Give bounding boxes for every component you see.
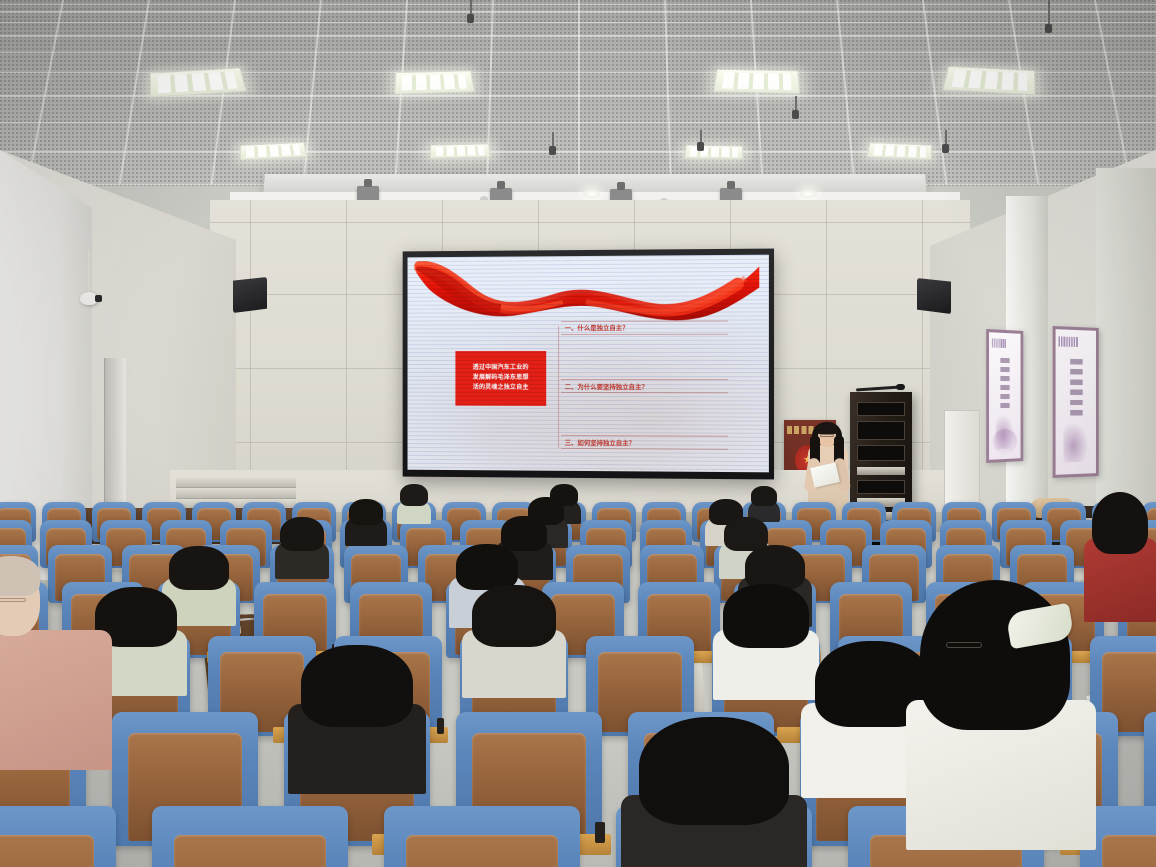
audience-hair xyxy=(920,580,1070,730)
recessed-downlight xyxy=(800,190,817,198)
audience-glasses-icon xyxy=(946,642,982,648)
ceiling-hanger xyxy=(795,96,797,110)
seat-back-panel xyxy=(406,835,559,867)
slide-outline-list: 一、什么是独立自主？ 二、为什么要坚持独立自主？ 三、如何坚持独立自主？ xyxy=(561,320,729,455)
audience-member xyxy=(280,517,324,568)
wall-speaker-icon-left xyxy=(233,277,267,313)
poster-logo xyxy=(1059,337,1078,348)
slide-headline-box: 透过中国汽车工业的 发展解码毛泽东思想 活的灵魂之独立自主 xyxy=(455,351,546,407)
lecture-hall-photo: 透过中国汽车工业的 发展解码毛泽东思想 活的灵魂之独立自主 一、什么是独立自主？… xyxy=(0,0,1156,867)
ceiling-hanger-head xyxy=(1045,24,1052,33)
auditorium-seat[interactable] xyxy=(384,806,580,867)
ceiling-hanger-head xyxy=(697,142,704,151)
ceiling-hanger xyxy=(552,132,554,146)
seat-back-panel xyxy=(1102,835,1156,867)
audience-member xyxy=(723,584,809,680)
audience-torso xyxy=(0,630,112,770)
audience-hair xyxy=(0,556,40,596)
ceiling-panel-light xyxy=(942,66,1035,95)
rack-slot xyxy=(857,421,904,440)
audience-hair xyxy=(169,546,229,590)
outline-item-3: 三、如何坚持独立自主？ xyxy=(561,435,729,450)
audience-hair xyxy=(723,584,809,648)
audience-member-red-vest xyxy=(1088,492,1154,602)
audience-hair xyxy=(456,544,518,590)
audience-hair xyxy=(751,486,777,506)
headline-line-1: 透过中国汽车工业的 xyxy=(473,364,529,373)
seat-tablet-hinge xyxy=(595,822,605,843)
outline-item-2-text: 二、为什么要坚持独立自主？ xyxy=(561,382,648,391)
ceiling-panel-light xyxy=(684,145,743,159)
ceiling-hanger xyxy=(700,130,702,142)
wall-seam xyxy=(346,200,347,500)
outline-item-1-text: 一、什么是独立自主？ xyxy=(561,323,629,332)
ceiling-panel-light xyxy=(394,71,474,94)
ceiling-panel-light xyxy=(713,69,800,93)
outline-item-2: 二、为什么要坚持独立自主？ xyxy=(561,379,729,393)
security-camera-icon xyxy=(80,292,98,305)
display-bezel: 透过中国汽车工业的 发展解码毛泽东思想 活的灵魂之独立自主 一、什么是独立自主？… xyxy=(403,249,774,480)
ceiling-hanger xyxy=(470,0,472,14)
wall-speaker-icon-right xyxy=(917,278,951,314)
wall-seam xyxy=(210,222,970,223)
wall-poster-far xyxy=(986,329,1023,463)
seat-back-panel xyxy=(174,835,327,867)
audience-member xyxy=(639,717,789,867)
presenter-glasses-icon xyxy=(820,434,834,437)
audience-member xyxy=(751,486,777,516)
red-silk-ribbon-graphic xyxy=(415,259,762,327)
ceiling-panel-light xyxy=(867,143,932,160)
rack-slot xyxy=(857,480,904,494)
led-display[interactable]: 透过中国汽车工业的 发展解码毛泽东思想 活的灵魂之独立自主 一、什么是独立自主？… xyxy=(403,249,774,480)
slide-surface: 透过中国汽车工业的 发展解码毛泽东思想 活的灵魂之独立自主 一、什么是独立自主？… xyxy=(408,255,769,473)
left-door-frame[interactable] xyxy=(104,358,126,508)
ceiling-hanger-head xyxy=(467,14,474,23)
poster-logo xyxy=(992,339,1007,348)
audience-member xyxy=(169,546,229,612)
poster-artwork xyxy=(1064,422,1088,463)
audience-hair xyxy=(1092,492,1148,554)
seat-tablet-hinge xyxy=(437,718,445,734)
ceiling-hanger-head xyxy=(942,144,949,153)
audience-hair xyxy=(639,717,789,825)
seat-back-panel xyxy=(0,835,94,867)
outline-item-1: 一、什么是独立自主？ xyxy=(561,320,729,334)
audience-glasses-icon xyxy=(0,598,26,602)
headline-line-2: 发展解码毛泽东思想 xyxy=(473,374,529,383)
audience-member xyxy=(400,484,428,517)
outline-item-3-text: 三、如何坚持独立自主？ xyxy=(561,437,635,446)
poster-artwork xyxy=(995,414,1014,450)
recessed-downlight xyxy=(583,190,600,198)
ceiling-hanger xyxy=(945,130,947,144)
audience-member xyxy=(301,645,413,768)
wall-poster-near xyxy=(1053,326,1099,478)
auditorium-seat[interactable] xyxy=(152,806,348,867)
audience-hair xyxy=(301,645,413,727)
audience-hair xyxy=(472,585,556,647)
poster-vertical-text xyxy=(1070,359,1082,420)
headline-line-3: 活的灵魂之独立自主 xyxy=(473,384,529,393)
audience-hair xyxy=(400,484,428,506)
poster-vertical-text xyxy=(1001,358,1010,411)
ceiling-hanger xyxy=(1048,0,1050,24)
rack-slot xyxy=(857,402,904,416)
audience-member-front-left xyxy=(0,560,94,740)
wall-seam xyxy=(250,200,251,500)
audience-member xyxy=(472,585,556,678)
rack-panel xyxy=(857,467,904,475)
ceiling-panel-light xyxy=(430,144,491,159)
audience-member xyxy=(349,499,383,538)
presenter-hair-front xyxy=(816,423,838,434)
ceiling xyxy=(0,0,1156,186)
camera-pole xyxy=(88,250,90,294)
audience-hair xyxy=(280,517,324,551)
wall-seam xyxy=(922,200,923,500)
audience-hair xyxy=(349,499,383,525)
ceiling-hanger-head xyxy=(549,146,556,155)
auditorium-seat[interactable] xyxy=(0,806,116,867)
rack-slot xyxy=(857,445,904,461)
audience-member-with-bow xyxy=(912,580,1080,810)
ceiling-hanger-head xyxy=(792,110,799,119)
